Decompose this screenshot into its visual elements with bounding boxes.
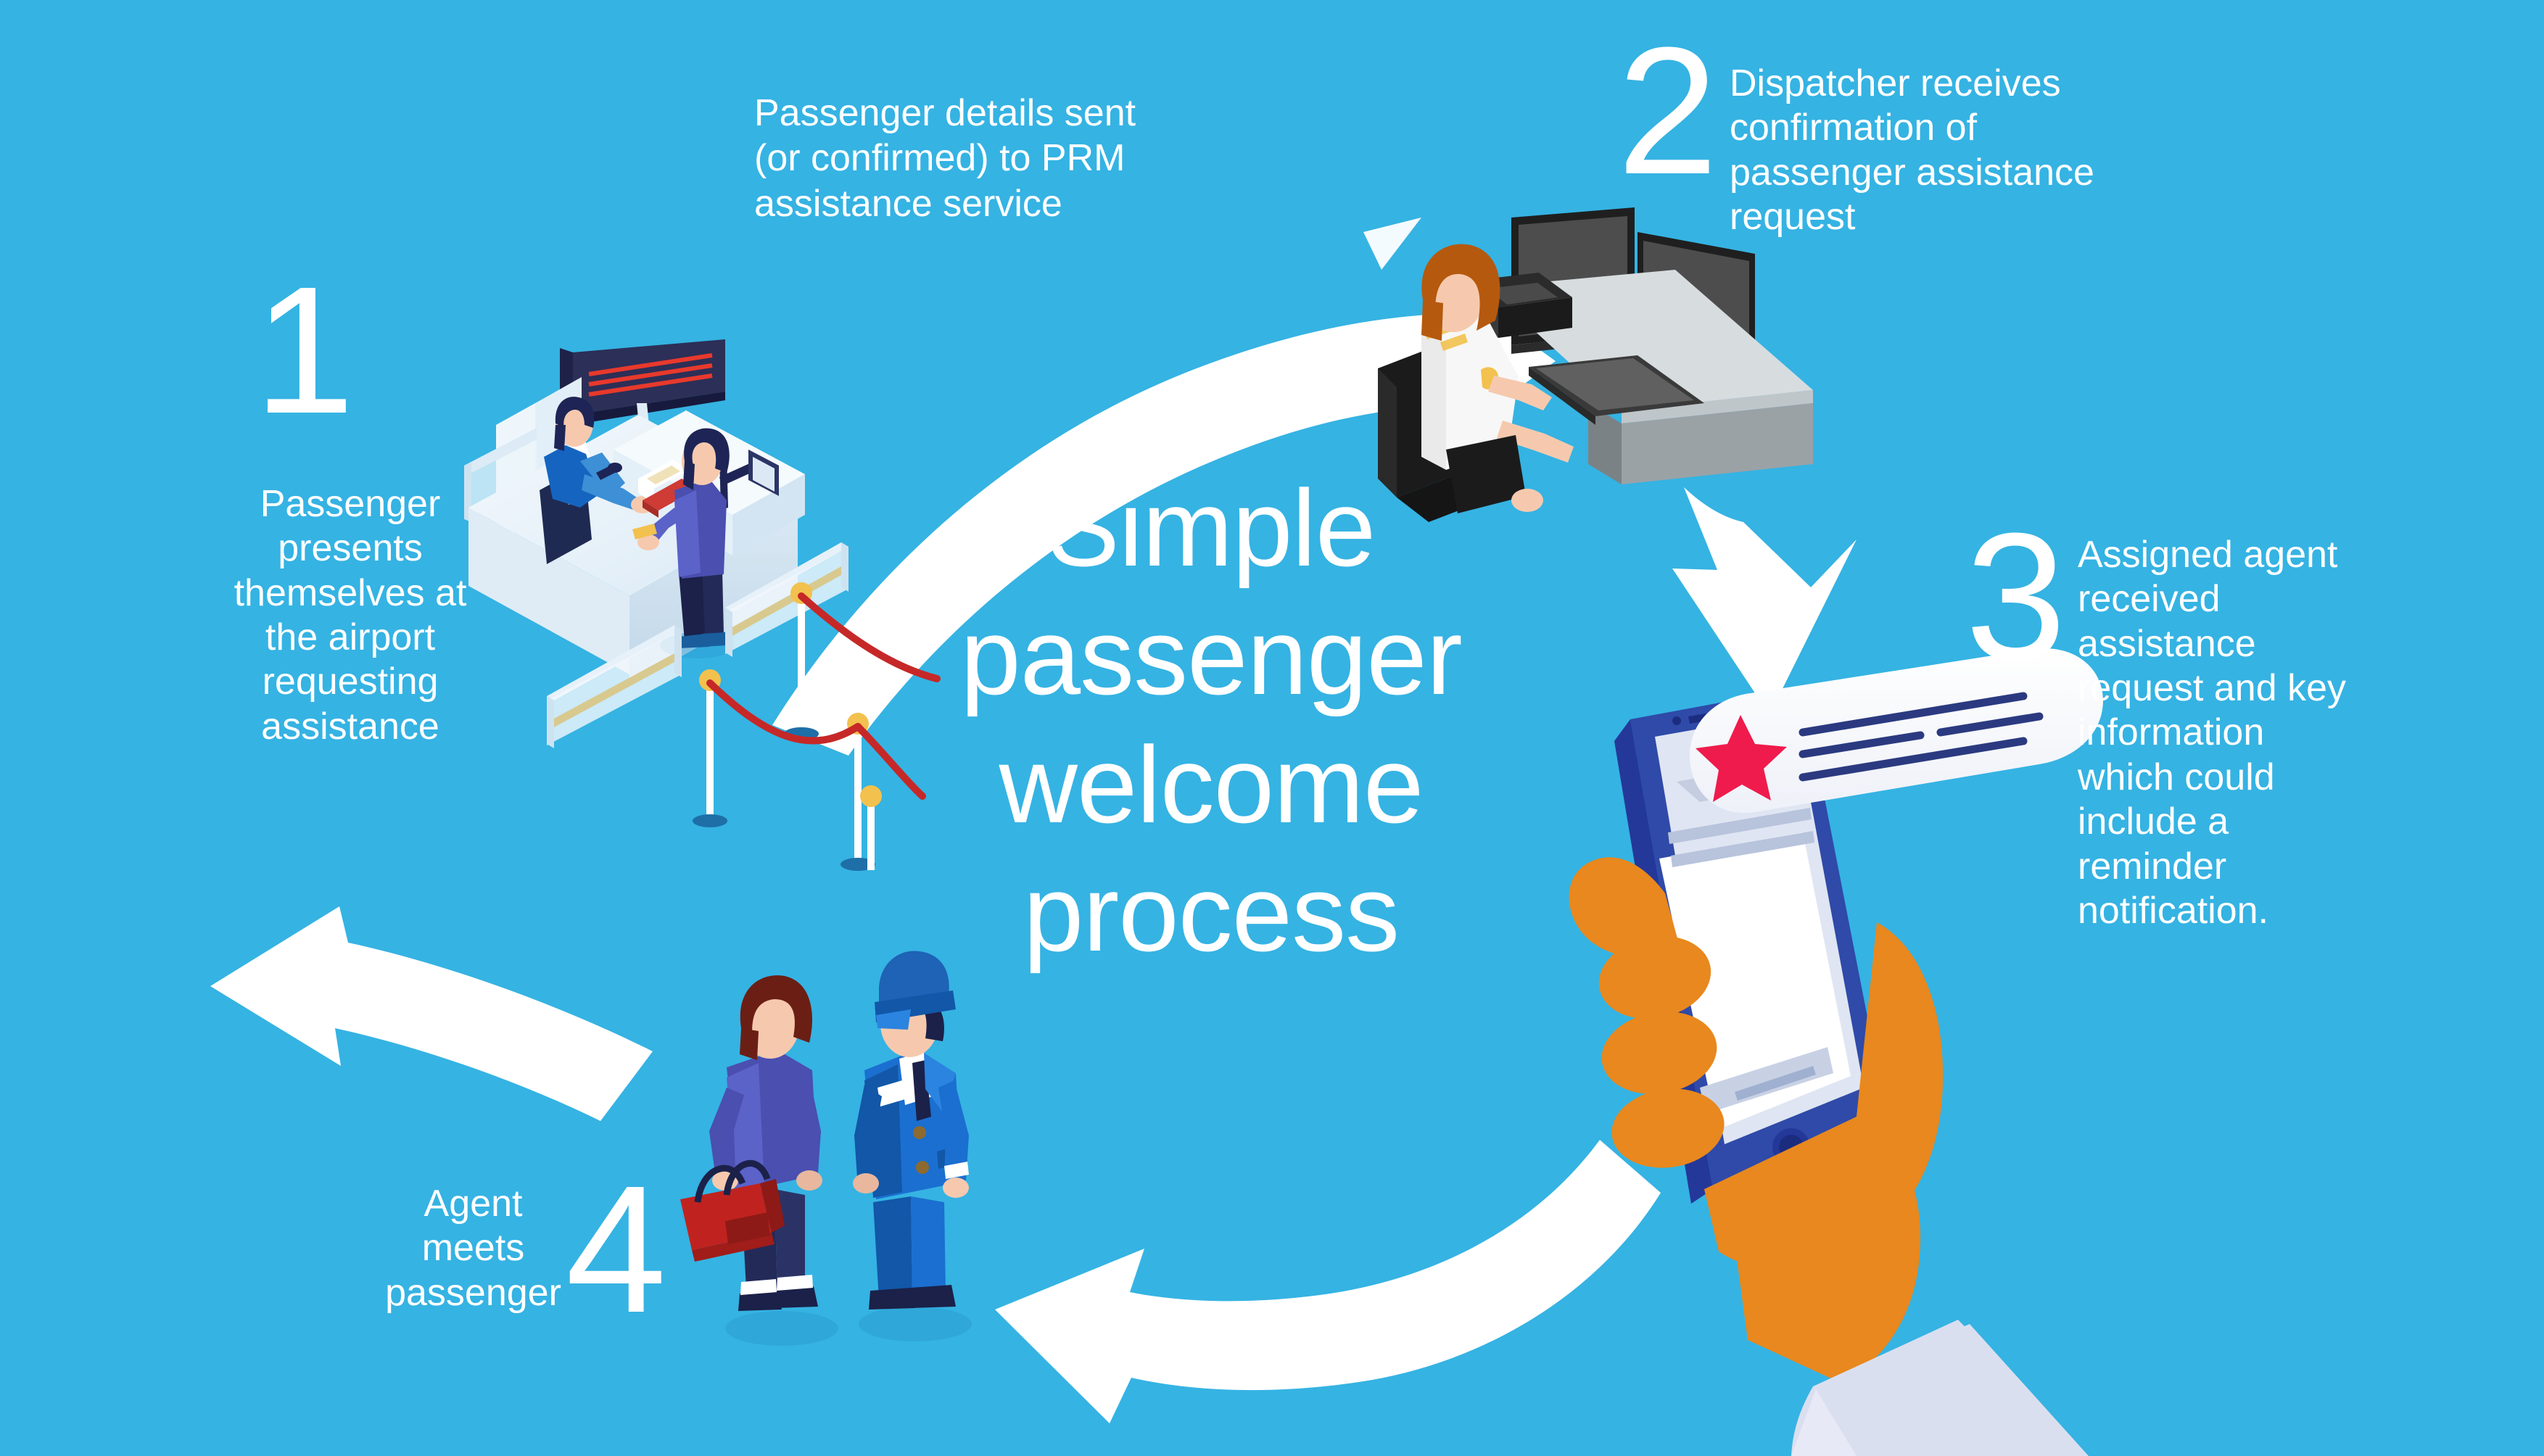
arrow-step3-to-step4-icon bbox=[995, 1140, 1661, 1423]
title-line-2: passenger bbox=[892, 592, 1530, 721]
illustration-phone-notification bbox=[1569, 648, 2103, 1456]
step-caption-4: Agent meets passenger bbox=[377, 1182, 569, 1315]
passenger-with-bag-figure bbox=[680, 975, 838, 1346]
step-caption-2: Dispatcher receives confirmation of pass… bbox=[1730, 62, 2121, 239]
passenger-figure bbox=[632, 429, 735, 658]
arrow-step2-to-step3-icon bbox=[1672, 487, 1857, 715]
monitor-left-icon bbox=[1511, 207, 1635, 354]
smartphone bbox=[1614, 687, 1887, 1204]
arrow-step4-to-step1-icon bbox=[210, 906, 653, 1121]
hand-holding-phone bbox=[1569, 857, 2089, 1456]
illustration-agent-meets-passenger bbox=[680, 951, 972, 1346]
step-number-2: 2 bbox=[1617, 29, 1718, 192]
clerk-figure bbox=[544, 397, 654, 513]
title-line-1: Simple bbox=[892, 464, 1530, 592]
monitor-right-icon bbox=[1638, 232, 1755, 384]
step-caption-3: Assigned agent received assistance reque… bbox=[2078, 533, 2368, 933]
step-number-4: 4 bbox=[566, 1167, 666, 1331]
illustration-checkin-desk bbox=[464, 339, 937, 871]
red-duffel-bag bbox=[680, 1163, 785, 1262]
step-number-1: 1 bbox=[254, 268, 355, 431]
agent-uniform-figure bbox=[853, 951, 972, 1341]
counter-screen bbox=[719, 450, 779, 510]
title-line-4: process bbox=[892, 849, 1530, 977]
step-caption-1: Passenger presents themselves at the air… bbox=[231, 482, 470, 749]
queue-barrier-left bbox=[547, 625, 682, 748]
connector-label-step1-step2: Passenger details sent (or confirmed) to… bbox=[754, 91, 1160, 226]
glass-rail-left bbox=[464, 428, 537, 522]
step-number-3: 3 bbox=[1965, 515, 2066, 678]
control-console bbox=[1465, 273, 1572, 338]
departure-board-icon bbox=[560, 339, 725, 425]
title-line-3: welcome bbox=[892, 721, 1530, 849]
keyboard-icon bbox=[1529, 355, 1704, 425]
desk-documents bbox=[638, 460, 698, 518]
decorative-wedge bbox=[1363, 218, 1421, 270]
queue-barrier-right bbox=[725, 542, 848, 657]
page-title: Simple passenger welcome process bbox=[892, 464, 1530, 977]
infographic-canvas: Simple passenger welcome process 1 Passe… bbox=[0, 0, 2544, 1456]
